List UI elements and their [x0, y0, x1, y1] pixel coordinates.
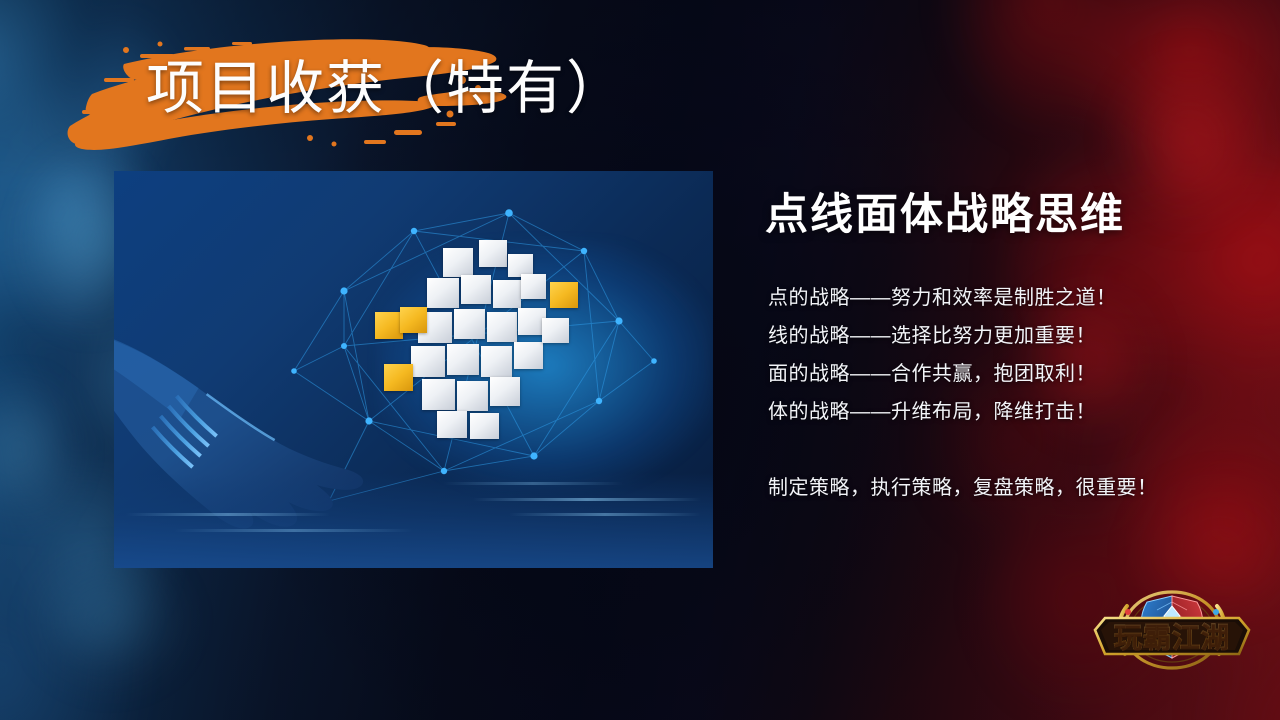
section-heading: 点线面体战略思维: [765, 180, 1125, 242]
list-item: 面的战略——合作共赢，抱团取利！: [768, 355, 1198, 393]
cube-gold: [550, 282, 578, 308]
cube-white: [542, 318, 568, 343]
cube-white: [521, 274, 546, 299]
list-item: 点的战略——努力和效率是制胜之道！: [768, 279, 1198, 317]
cube-white: [427, 278, 459, 308]
floor-streak: [473, 498, 701, 501]
cube-white: [481, 346, 512, 376]
title-block: 项目收获（特有）: [64, 26, 684, 162]
cube-white: [461, 275, 491, 304]
floor-streak: [126, 513, 330, 516]
image-floor-reflection: [114, 473, 713, 568]
floor-streak: [509, 513, 701, 516]
cube-white: [490, 377, 520, 406]
cube-white: [479, 240, 507, 266]
cube-white: [493, 280, 522, 308]
presentation-slide: 项目收获（特有）: [0, 0, 1280, 720]
strategy-list: 点的战略——努力和效率是制胜之道！ 线的战略——选择比努力更加重要！ 面的战略—…: [768, 279, 1198, 507]
cube-white: [470, 413, 499, 439]
floor-streak: [174, 529, 414, 532]
list-item: 体的战略——升维布局，降维打击！: [768, 393, 1198, 431]
slide-image: [114, 171, 713, 568]
cube-white: [487, 312, 517, 341]
floor-streak: [443, 482, 623, 485]
closing-statement: 制定策略，执行策略，复盘策略，很重要！: [768, 469, 1198, 507]
cube-white: [514, 342, 543, 370]
page-title: 项目收获（特有）: [146, 60, 626, 118]
brand-logo: 玩霸江湖: [1083, 588, 1261, 672]
list-item: 线的战略——选择比努力更加重要！: [768, 317, 1198, 355]
cube-white: [443, 248, 473, 277]
logo-wordmark: 玩霸江湖: [1083, 616, 1261, 656]
